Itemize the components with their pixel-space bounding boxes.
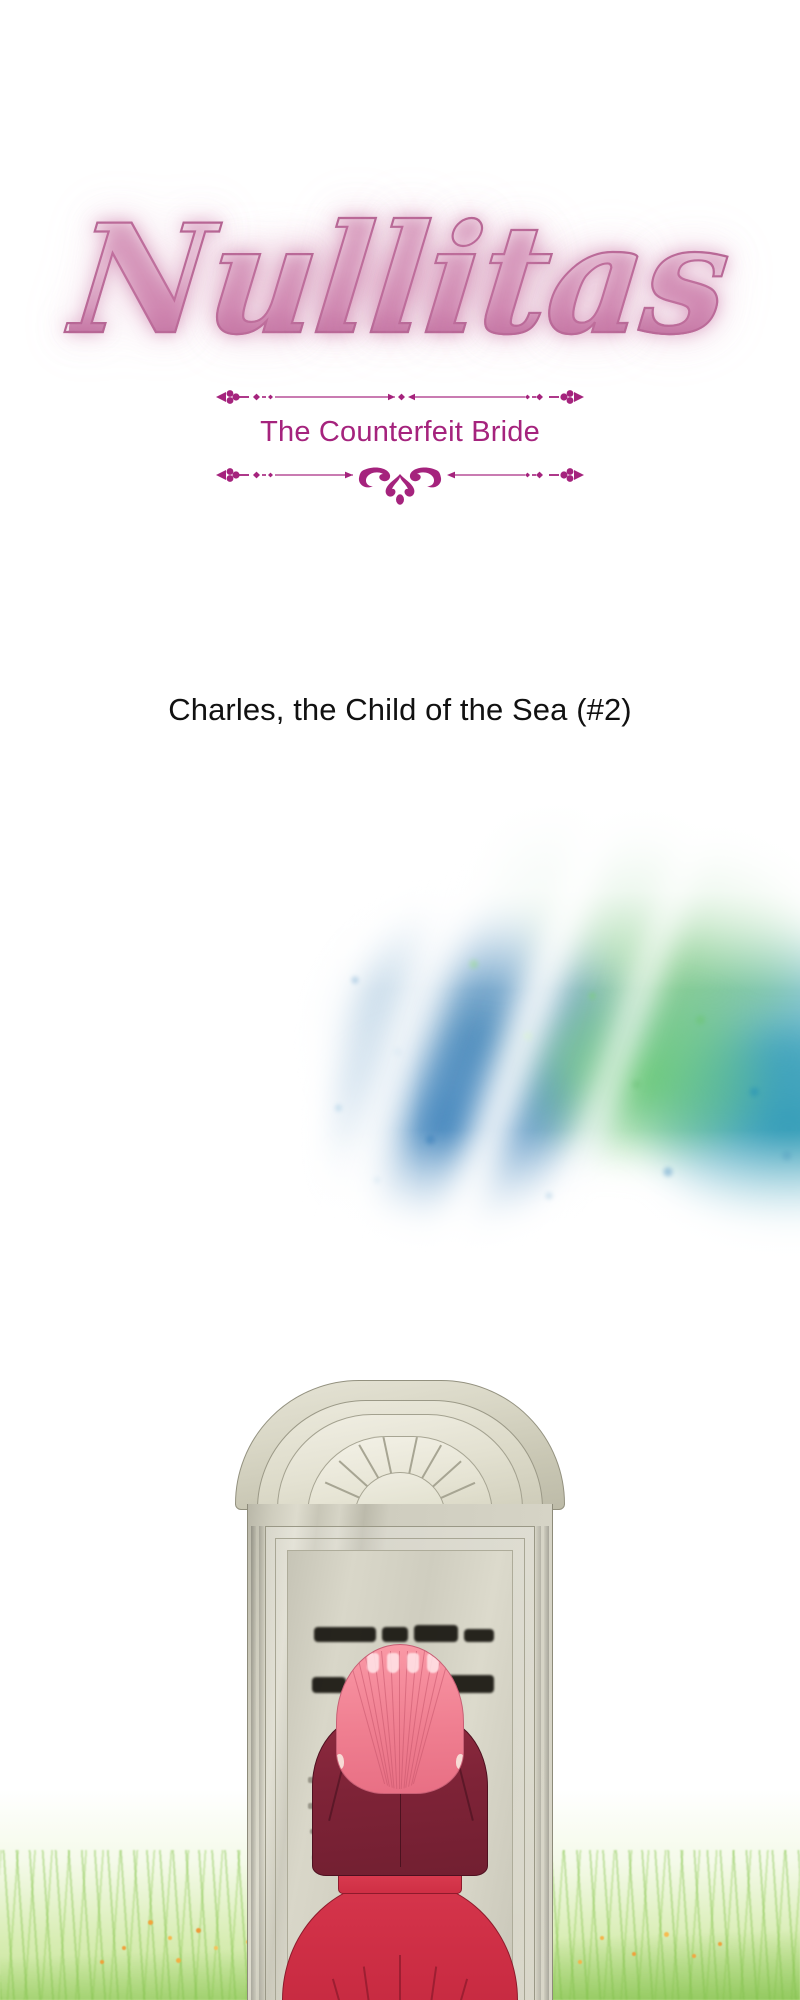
hair-highlight-3 <box>407 1653 419 1673</box>
inscription-glyph-4 <box>464 1629 494 1642</box>
meadow-flower-2 <box>168 1936 172 1940</box>
foliage-fade-bottom <box>0 1130 800 1360</box>
ornament-top-icon <box>210 384 590 410</box>
meadow-flower-10 <box>600 1936 604 1940</box>
inscription-glyph-3 <box>414 1625 458 1642</box>
ear-left <box>336 1754 344 1769</box>
groove-left-1 <box>251 1526 256 2000</box>
series-subtitle: The Counterfeit Bride <box>260 416 540 449</box>
ornament-divider-bottom <box>210 461 590 505</box>
meadow-flower-8 <box>100 1960 104 1964</box>
hair-highlight-2 <box>387 1653 399 1673</box>
foliage-fade-top <box>0 800 800 990</box>
groove-left-2 <box>259 1526 264 2000</box>
hair-highlight-1 <box>367 1653 379 1673</box>
watercolor-foliage-panel <box>0 800 800 1360</box>
meadow-flower-4 <box>214 1946 218 1950</box>
ear-right <box>456 1754 464 1769</box>
hair-strand-1 <box>347 1651 385 1784</box>
ornament-divider-top <box>210 384 590 410</box>
ornament-bottom-icon <box>210 461 590 505</box>
meadow-flower-1 <box>148 1920 153 1925</box>
skirt-fold-5 <box>453 1979 468 2000</box>
meadow-flower-11 <box>632 1952 636 1956</box>
hair-highlight-4 <box>427 1653 439 1673</box>
meadow-flower-5 <box>122 1946 126 1950</box>
skirt-fold-1 <box>332 1979 347 2000</box>
character-back-view <box>280 1670 520 2000</box>
foliage-art <box>0 800 800 1360</box>
skirt-fold-4 <box>427 1967 437 2000</box>
episode-title: Charles, the Child of the Sea (#2) <box>0 692 800 728</box>
series-logo-text: Nullitas <box>66 205 734 355</box>
stone-monument <box>235 1380 565 2000</box>
meadow-flower-13 <box>692 1954 696 1958</box>
inscription-glyph-2 <box>382 1627 408 1642</box>
inscription-glyph-1 <box>314 1627 376 1642</box>
series-title-block: Nullitas <box>0 0 800 620</box>
skirt-fold-3 <box>399 1955 401 2000</box>
skirt-fold-2 <box>363 1967 373 2000</box>
series-logo: Nullitas <box>40 180 760 380</box>
meadow-flower-15 <box>718 1942 722 1946</box>
groove-right-2 <box>536 1526 541 2000</box>
groove-right-1 <box>544 1526 549 2000</box>
meadow-flower-14 <box>578 1960 582 1964</box>
monument-panel <box>0 1380 800 2000</box>
hair-strand-7 <box>399 1651 400 1789</box>
character-skirt <box>282 1880 518 2000</box>
meadow-flower-12 <box>664 1932 669 1937</box>
character-hair <box>336 1644 464 1794</box>
comic-page: Nullitas <box>0 0 800 2000</box>
meadow-flower-3 <box>196 1928 201 1933</box>
meadow-flower-6 <box>176 1958 181 1963</box>
